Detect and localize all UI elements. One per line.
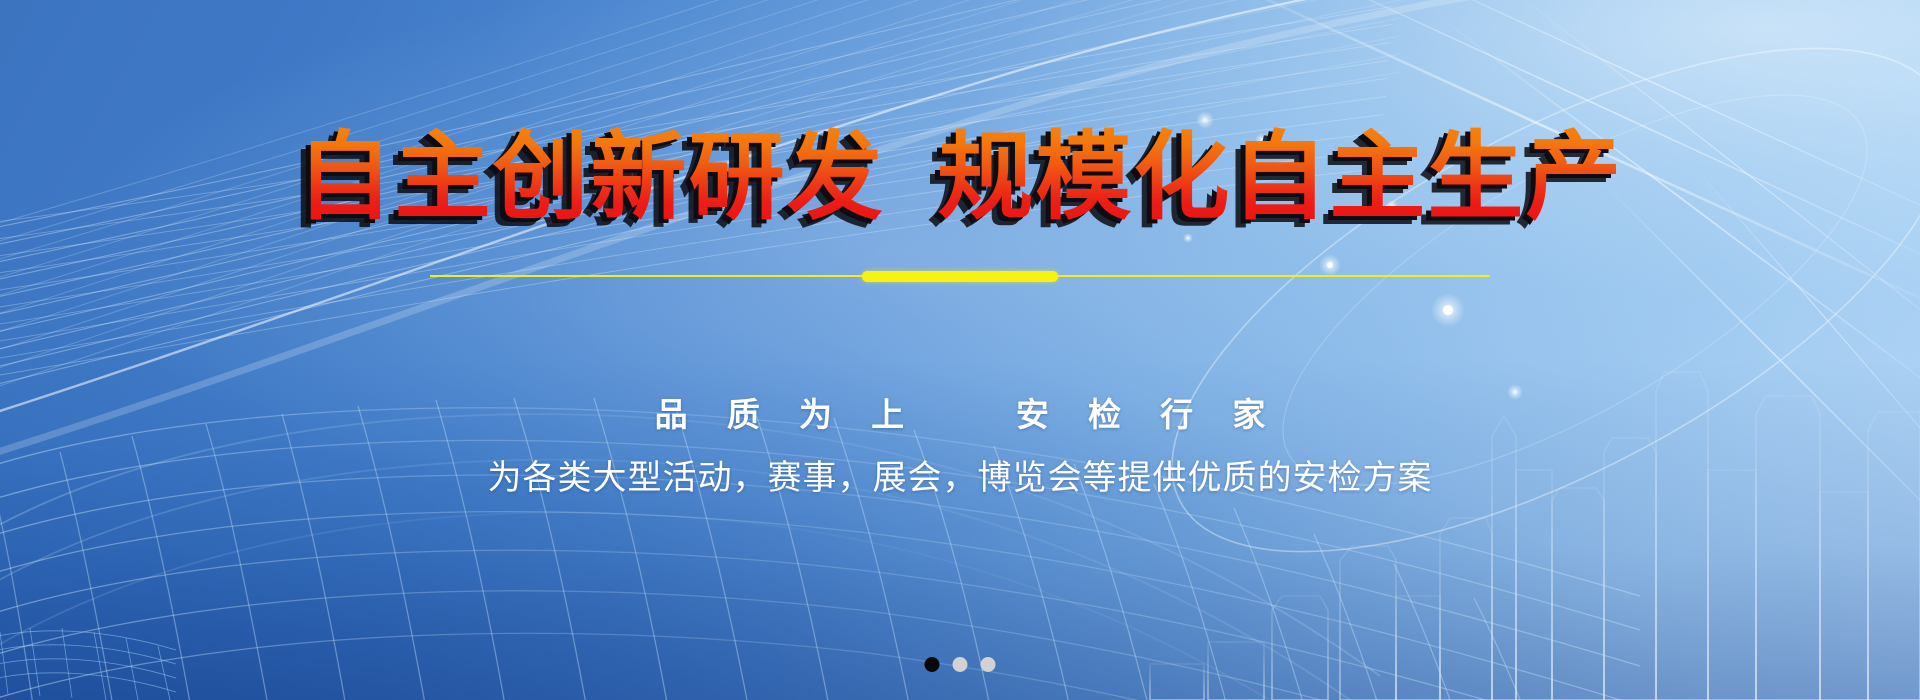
banner-content: 自主创新研发 规模化自主生产 品 质 为 上 安 检 行 家 为各类大型活动，赛… — [0, 0, 1920, 700]
divider-thick-segment — [862, 271, 1058, 282]
carousel-dot-2[interactable] — [953, 657, 968, 672]
banner-tagline: 为各类大型活动，赛事，展会，博览会等提供优质的安检方案 — [0, 450, 1920, 499]
banner-headline: 自主创新研发 规模化自主生产 — [0, 126, 1920, 230]
headline-part-2: 规模化自主生产 — [937, 124, 1623, 231]
headline-part-1: 自主创新研发 — [297, 124, 885, 231]
yellow-divider — [430, 270, 1490, 282]
carousel-dots[interactable] — [925, 657, 996, 672]
carousel-dot-1[interactable] — [925, 657, 940, 672]
banner-subtitle: 品 质 为 上 安 检 行 家 — [0, 388, 1920, 436]
hero-banner: 自主创新研发 规模化自主生产 品 质 为 上 安 检 行 家 为各类大型活动，赛… — [0, 0, 1920, 700]
headline-gap — [885, 124, 938, 231]
carousel-dot-3[interactable] — [981, 657, 996, 672]
